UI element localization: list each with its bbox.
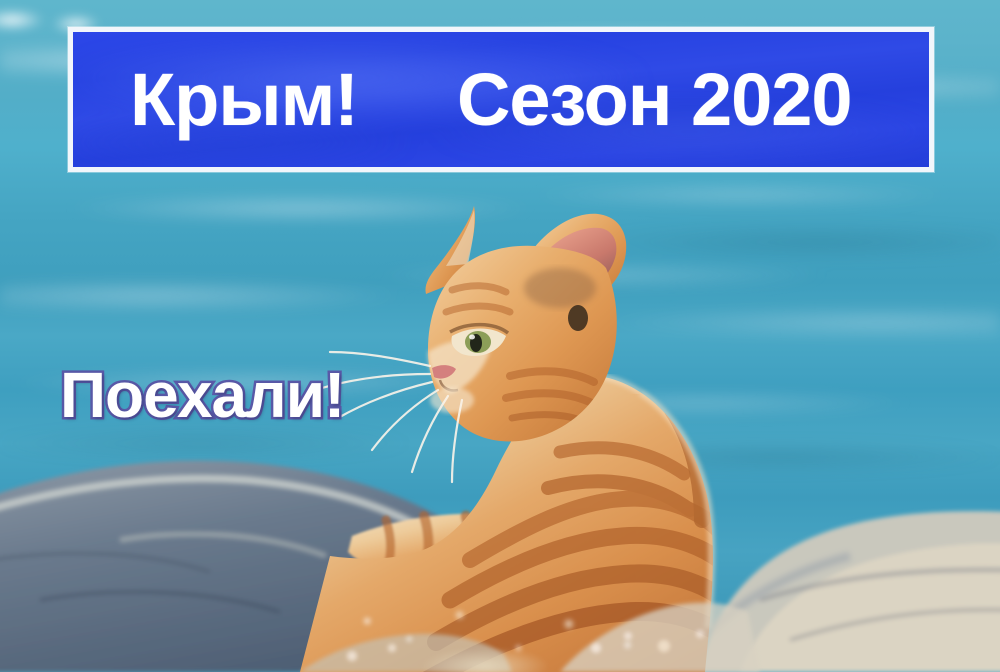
rock-speckle-texture — [300, 528, 720, 672]
banner-text-row: Крым! Сезон 2020 — [73, 63, 929, 137]
title-banner: Крым! Сезон 2020 — [68, 27, 934, 172]
banner-headline-right: Сезон 2020 — [457, 63, 852, 137]
caption-poehali: Поехали! — [60, 363, 344, 427]
image-canvas: Крым! Сезон 2020 Поехали! — [0, 0, 1000, 672]
banner-headline-left: Крым! — [130, 63, 358, 137]
